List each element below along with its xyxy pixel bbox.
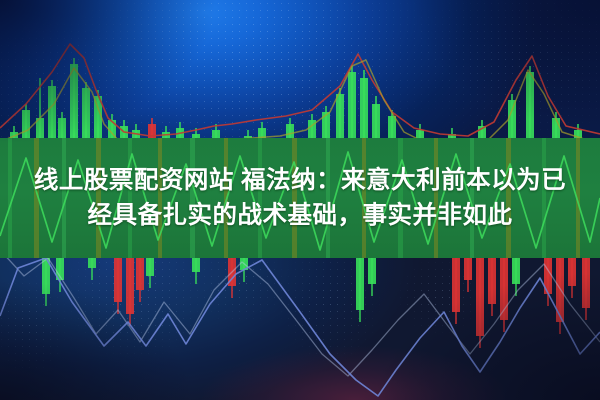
upper-stock-chart <box>0 0 600 160</box>
headline-text-block: 线上股票配资网站 福法纳：来意大利前本以为已 经具备扎实的战术基础，事实并非如此 <box>0 138 600 258</box>
zigzag-line-blue <box>0 258 600 396</box>
lower-stock-chart <box>0 250 600 400</box>
candle-body <box>348 72 356 148</box>
candle-body <box>82 88 90 140</box>
banner-image: 线上股票配资网站 福法纳：来意大利前本以为已 经具备扎实的战术基础，事实并非如此 <box>0 0 600 400</box>
candle-body <box>70 64 78 146</box>
headline-line-1: 线上股票配资网站 福法纳：来意大利前本以为已 <box>34 168 566 194</box>
headline-line-2: 经具备扎实的战术基础，事实并非如此 <box>88 203 513 229</box>
candle-body <box>526 72 534 148</box>
